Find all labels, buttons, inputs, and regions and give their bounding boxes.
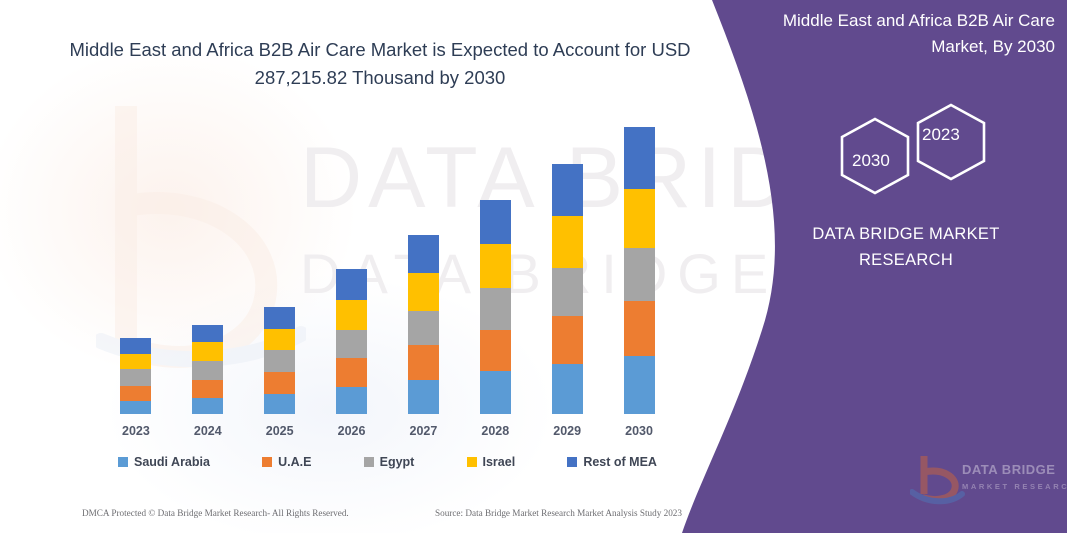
bar-segment [264, 394, 295, 414]
legend-label: Saudi Arabia [134, 455, 210, 469]
bar-segment [480, 200, 511, 244]
bar-segment [120, 338, 151, 354]
bar-segment [480, 371, 511, 414]
legend-item[interactable]: U.A.E [262, 455, 311, 469]
bar-segment [264, 350, 295, 372]
panel-logo: DATA BRIDGE MARKET RESEARCH [910, 452, 1067, 510]
bar-segment [624, 356, 655, 414]
x-axis-tick: 2027 [388, 424, 458, 438]
stacked-bar[interactable] [552, 164, 583, 414]
legend-label: Israel [483, 455, 516, 469]
x-axis-tick: 2025 [245, 424, 315, 438]
bar-segment [552, 216, 583, 268]
right-panel-content: Middle East and Africa B2B Air Care Mark… [745, 0, 1067, 533]
x-axis-tick: 2023 [101, 424, 171, 438]
footer-source: Source: Data Bridge Market Research Mark… [435, 508, 682, 518]
hexagon-badges: 2030 2023 [805, 95, 1045, 205]
bar-segment [480, 330, 511, 372]
bar-segment [624, 248, 655, 301]
legend-swatch [467, 457, 477, 467]
bar-column [388, 110, 458, 414]
bar-segment [408, 345, 439, 379]
bar-segment [552, 268, 583, 316]
bar-segment [408, 380, 439, 414]
panel-logo-icon [910, 452, 1067, 510]
bar-segment [624, 301, 655, 357]
hex-label-2023: 2023 [922, 125, 960, 145]
bar-segment [120, 386, 151, 401]
bar-segment [408, 311, 439, 345]
legend-item[interactable]: Israel [467, 455, 516, 469]
bar-column [317, 110, 387, 414]
stacked-bar[interactable] [408, 235, 439, 414]
bar-column [532, 110, 602, 414]
stacked-bar[interactable] [624, 127, 655, 414]
bar-segment [336, 269, 367, 299]
stacked-bar[interactable] [120, 338, 151, 414]
panel-logo-subtext: MARKET RESEARCH [962, 482, 1067, 491]
panel-brand-line-2: RESEARCH [745, 248, 1067, 274]
bar-segment [408, 273, 439, 310]
legend-item[interactable]: Rest of MEA [567, 455, 657, 469]
bar-segment [120, 354, 151, 369]
stacked-bar[interactable] [336, 269, 367, 414]
legend-item[interactable]: Saudi Arabia [118, 455, 210, 469]
bar-segment [552, 364, 583, 414]
infographic-root: DATA BRIDGE DATA BRIDGE MARKET RESEARCH … [0, 0, 1067, 533]
bar-column [101, 110, 171, 414]
bar-segment [624, 127, 655, 189]
x-axis-tick: 2028 [460, 424, 530, 438]
page-title: Middle East and Africa B2B Air Care Mark… [60, 36, 700, 92]
stacked-bar[interactable] [480, 200, 511, 414]
x-axis-tick: 2026 [317, 424, 387, 438]
bar-segment [192, 398, 223, 414]
bar-segment [192, 342, 223, 361]
footer: DMCA Protected © Data Bridge Market Rese… [82, 508, 682, 518]
legend-swatch [118, 457, 128, 467]
bar-segment [192, 325, 223, 342]
x-axis-labels: 20232024202520262027202820292030 [100, 424, 675, 438]
legend-swatch [364, 457, 374, 467]
x-axis-tick: 2030 [604, 424, 674, 438]
x-axis-tick: 2029 [532, 424, 602, 438]
chart-legend: Saudi ArabiaU.A.EEgyptIsraelRest of MEA [100, 455, 675, 469]
legend-label: Egypt [380, 455, 415, 469]
panel-brand: DATA BRIDGE MARKET RESEARCH [745, 222, 1067, 273]
bar-column [173, 110, 243, 414]
stacked-bar[interactable] [192, 325, 223, 414]
bar-segment [336, 387, 367, 414]
x-axis-tick: 2024 [173, 424, 243, 438]
bar-segment [480, 288, 511, 330]
bar-segment [552, 164, 583, 217]
panel-logo-text: DATA BRIDGE [962, 462, 1055, 477]
bar-segment [624, 189, 655, 248]
legend-label: U.A.E [278, 455, 311, 469]
bar-segment [336, 330, 367, 358]
bar-segment [336, 358, 367, 386]
panel-brand-line-1: DATA BRIDGE MARKET [745, 222, 1067, 248]
bar-segment [552, 316, 583, 365]
bar-segment [192, 380, 223, 398]
stacked-bar[interactable] [264, 307, 295, 414]
legend-swatch [567, 457, 577, 467]
bar-segment [264, 329, 295, 350]
chart-plot-area [100, 110, 675, 414]
bar-column [460, 110, 530, 414]
bar-column [604, 110, 674, 414]
hex-label-2030: 2030 [852, 151, 890, 171]
bar-segment [408, 235, 439, 274]
bar-group [100, 110, 675, 414]
legend-swatch [262, 457, 272, 467]
bar-column [245, 110, 315, 414]
bar-segment [120, 401, 151, 414]
bar-segment [264, 307, 295, 329]
bar-segment [264, 372, 295, 393]
bar-segment [192, 361, 223, 379]
bar-segment [480, 244, 511, 289]
panel-title: Middle East and Africa B2B Air Care Mark… [755, 8, 1055, 59]
bar-segment [120, 369, 151, 385]
bar-segment [336, 300, 367, 330]
legend-label: Rest of MEA [583, 455, 657, 469]
footer-copyright: DMCA Protected © Data Bridge Market Rese… [82, 508, 349, 518]
legend-item[interactable]: Egypt [364, 455, 415, 469]
hexagon-icons [805, 95, 1045, 205]
